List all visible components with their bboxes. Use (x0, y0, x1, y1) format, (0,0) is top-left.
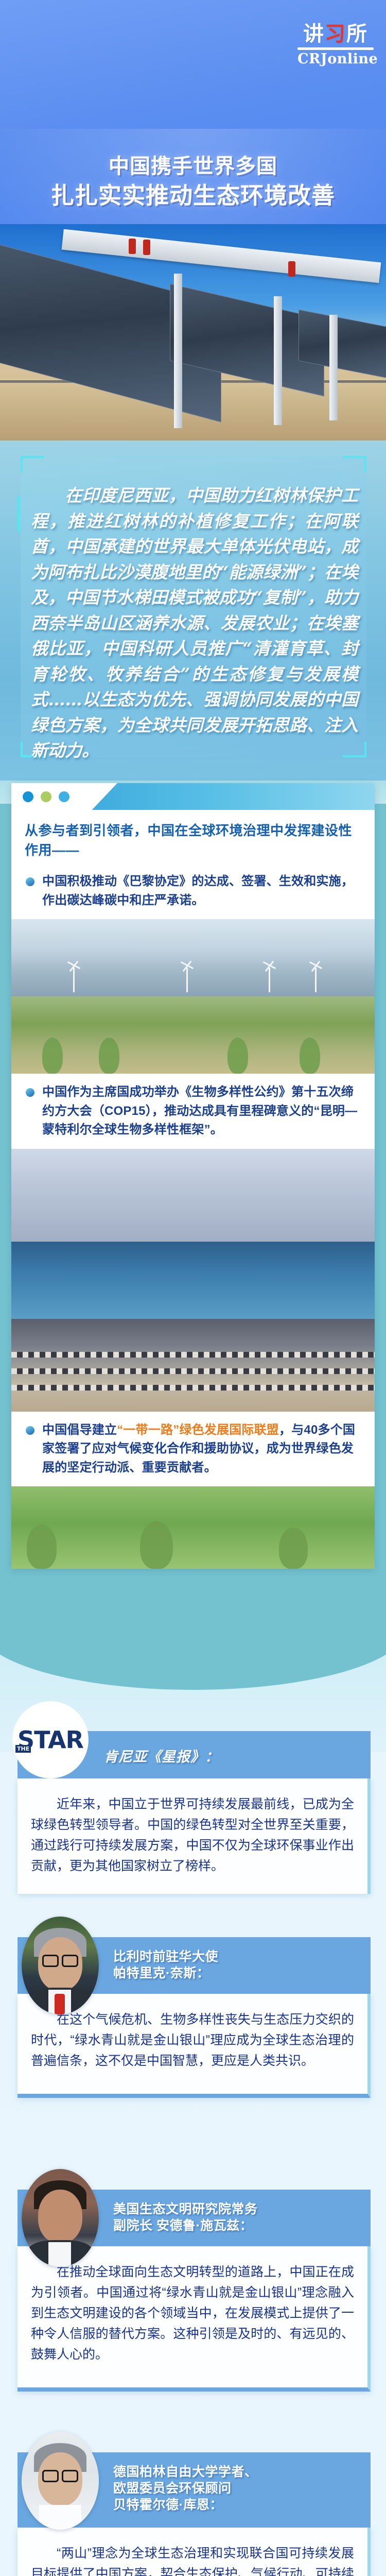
intro-paragraph: 在印度尼西亚，中国助力红树林保护工程，推进红树林的补植修复工作；在阿联酋，中国承… (31, 483, 358, 764)
quote-block-star: THESTAR 肯尼亚《星报》： 近年来，中国立于世界可持续发展最前线，已成为全… (0, 1731, 386, 1894)
robot-marker-1 (129, 239, 136, 254)
list-item: 中国作为主席国成功举办《生物多样性公约》第十五次缔约方大会（COP15），推动达… (25, 1083, 361, 1139)
person-title: 比利时前驻华大使 帕特里克·奈斯： (113, 1948, 362, 1981)
forum-audience-photo (11, 1319, 375, 1412)
avatar-tie (55, 1994, 65, 2014)
tree-shape (27, 1524, 57, 1569)
wind-turbine-icon (315, 968, 317, 992)
window-dots (23, 791, 69, 802)
achievements-card: 从参与者到引领者，中国在全球环境治理中发挥建设性作用—— 中国积极推动《巴黎协定… (11, 783, 375, 1569)
glasses-icon (42, 1955, 78, 1964)
tree-shape (42, 1038, 63, 1074)
avatar-shirt (39, 2505, 81, 2530)
list-item: 中国积极推动《巴黎协定》的达成、签署、生效和实施，作出碳达峰碳中和庄严承诺。 (25, 872, 361, 910)
wind-turbine-icon (186, 968, 188, 992)
bullet-text: 中国作为主席国成功举办《生物多样性公约》第十五次缔约方大会（COP15），推动达… (42, 1083, 361, 1139)
person-title-line-1: 比利时前驻华大使 (113, 1948, 362, 1965)
bullet-list: 中国作为主席国成功举办《生物多样性公约》第十五次缔约方大会（COP15），推动达… (11, 1074, 375, 1139)
title-line-1: 中国携手世界多国 (0, 155, 386, 179)
international-voices-section: THESTAR 肯尼亚《星报》： 近年来，中国立于世界可持续发展最前线，已成为全… (0, 1628, 386, 2576)
cyan-dot-icon (59, 791, 69, 802)
person-title: 美国生态文明研究院常务 副院长 安德鲁·施瓦兹： (113, 2201, 362, 2234)
quote-header: 德国柏林自由大学学者、 欧盟委员会环保顾问 贝特霍尔德·库恩： (17, 2452, 371, 2528)
quote-body: “两山”理念为全球生态治理和实现联合国可持续发展目标提供了中国方案，契合生态保护… (17, 2528, 371, 2576)
wave-divider (0, 1628, 386, 1690)
seat-row (11, 1385, 375, 1391)
quote-source-title: 肯尼亚《星报》： (104, 1745, 219, 1766)
green-dot-icon (41, 791, 51, 802)
support-post-2 (274, 296, 282, 425)
glasses-icon (42, 2470, 78, 2479)
tree-shape (300, 1038, 320, 1074)
tree-shape (279, 1528, 308, 1569)
solar-farm-photo (0, 224, 386, 440)
title-line-2: 扎扎实实推动生态环境改善 (0, 182, 386, 209)
cop15-stage-photo (11, 1242, 375, 1319)
seat-row (11, 1368, 375, 1374)
support-post-1 (174, 274, 182, 428)
person-title-line-1: 美国生态文明研究院常务 (113, 2201, 362, 2217)
bullet-text: 中国倡导建立“一带一路”绿色发展国际联盟，与40多个国家签署了应对气候变化合作和… (42, 1421, 361, 1477)
quote-body: 在推动全球面向生态文明转型的道路上，中国正在成为引领者。中国通过将“绿水青山就是… (17, 2246, 371, 2392)
wind-turbine-icon (269, 968, 270, 992)
person-title-line-1: 德国柏林自由大学学者、 (113, 2464, 362, 2480)
tree-shape (227, 1038, 248, 1074)
forest-restoration-photo (11, 996, 375, 1074)
tree-shape (99, 1038, 119, 1074)
logo-chinese-characters: 讲习所 (303, 24, 368, 44)
card-heading: 从参与者到引领者，中国在全球环境治理中发挥建设性作用—— (11, 810, 375, 863)
frame-edge-accent (17, 496, 21, 532)
logo-divider (297, 47, 374, 50)
frame-corner-top-right (343, 456, 366, 471)
cop15-hall-photo (11, 1149, 375, 1242)
person-title-line-2: 欧盟委员会环保顾问 (113, 2480, 362, 2497)
quote-header: 比利时前驻华大使 帕特里克·奈斯： (17, 1937, 371, 1994)
frame-corner-top-left (21, 456, 44, 471)
card-titlebar (11, 783, 375, 810)
hero-banner: 讲习所 CRJonline 中国携手世界多国 扎扎实实推动生态环境改善 (0, 0, 386, 234)
logo-subtitle: CRJonline (297, 52, 374, 66)
intro-frame: 在印度尼西亚，中国助力红树林保护工程，推进红树林的补植修复工作；在阿联酋，中国承… (21, 456, 366, 757)
avatar (22, 2432, 99, 2530)
bullet-text: 中国积极推动《巴黎协定》的达成、签署、生效和实施，作出碳达峰碳中和庄严承诺。 (42, 872, 361, 910)
avatar-shirt (48, 2242, 71, 2267)
person-title: 德国柏林自由大学学者、 欧盟委员会环保顾问 贝特霍尔德·库恩： (113, 2464, 362, 2513)
bullet-dot-icon (26, 877, 34, 886)
logo-char-xi: 习 (325, 22, 346, 46)
quote-header: 美国生态文明研究院常务 副院长 安德鲁·施瓦兹： (17, 2190, 371, 2246)
list-item: 中国倡导建立“一带一路”绿色发展国际联盟，与40多个国家签署了应对气候变化合作和… (25, 1421, 361, 1477)
quote-block-belgium: 比利时前驻华大使 帕特里克·奈斯： 在这个气候危机、生物多样性丧失与生态压力交织… (0, 1937, 386, 2098)
intro-section: 在印度尼西亚，中国助力红树林保护工程，推进红树林的补植修复工作；在阿联酋，中国承… (0, 440, 386, 781)
logo-char-suo: 所 (346, 22, 368, 46)
logo-char-jiang: 讲 (303, 22, 325, 46)
green-landscape-photo (11, 1486, 375, 1569)
quote-header: THESTAR 肯尼亚《星报》： (17, 1731, 371, 1778)
bullet-text-highlight: “一带一路”绿色发展国际联盟 (117, 1423, 279, 1437)
robot-marker-2 (143, 240, 150, 255)
avatar (22, 1917, 99, 2014)
quote-text: “两山”理念为全球生态治理和实现联合国可持续发展目标提供了中国方案，契合生态保护… (31, 2543, 354, 2576)
quote-text: 在推动全球面向生态文明转型的道路上，中国正在成为引领者。中国通过将“绿水青山就是… (31, 2262, 354, 2365)
bullet-list: 中国倡导建立“一带一路”绿色发展国际联盟，与40多个国家签署了应对气候变化合作和… (11, 1412, 375, 1477)
quote-block-germany: 德国柏林自由大学学者、 欧盟委员会环保顾问 贝特霍尔德·库恩： “两山”理念为全… (0, 2452, 386, 2576)
bullet-dot-icon (26, 1426, 34, 1435)
robot-marker-3 (288, 261, 295, 277)
seat-row (11, 1352, 375, 1358)
wind-farm-photo (11, 919, 375, 996)
bullet-list: 中国积极推动《巴黎协定》的达成、签署、生效和实施，作出碳达峰碳中和庄严承诺。 (11, 863, 375, 910)
support-post-3 (329, 315, 338, 420)
person-title-line-3: 贝特霍尔德·库恩： (113, 2497, 362, 2513)
person-title-line-2: 帕特里克·奈斯： (113, 1965, 362, 1981)
wind-turbine-icon (73, 968, 75, 992)
cri-jiangxisuo-logo: 讲习所 CRJonline (297, 24, 374, 81)
quote-text: 在这个气候危机、生物多样性丧失与生态压力交织的时代，“绿水青山就是金山银山”理应… (31, 2009, 354, 2071)
star-logo-badge: THESTAR (12, 1701, 89, 1778)
quote-block-usa: 美国生态文明研究院常务 副院长 安德鲁·施瓦兹： 在推动全球面向生态文明转型的道… (0, 2190, 386, 2392)
bullet-dot-icon (26, 1088, 34, 1097)
quote-text: 近年来，中国立于世界可持续发展最前线，已成为全球绿色转型领导者。中国的绿色转型对… (31, 1794, 354, 1876)
quote-body: 近年来，中国立于世界可持续发展最前线，已成为全球绿色转型领导者。中国的绿色转型对… (17, 1778, 371, 1894)
achievements-card-section: 从参与者到引领者，中国在全球环境治理中发挥建设性作用—— 中国积极推动《巴黎协定… (0, 783, 386, 1628)
avatar (22, 2169, 99, 2267)
blue-dot-icon (23, 791, 33, 802)
bullet-text-pre: 中国倡导建立 (42, 1423, 117, 1437)
tree-shape (140, 1521, 173, 1569)
page-title: 中国携手世界多国 扎扎实实推动生态环境改善 (0, 155, 386, 209)
star-logo: THESTAR (17, 1726, 83, 1754)
avatar-face (38, 2190, 82, 2243)
star-logo-prefix: THE (15, 1745, 31, 1753)
infographic-page: 讲习所 CRJonline 中国携手世界多国 扎扎实实推动生态环境改善 (0, 0, 386, 2576)
person-title-line-2: 副院长 安德鲁·施瓦兹： (113, 2217, 362, 2234)
